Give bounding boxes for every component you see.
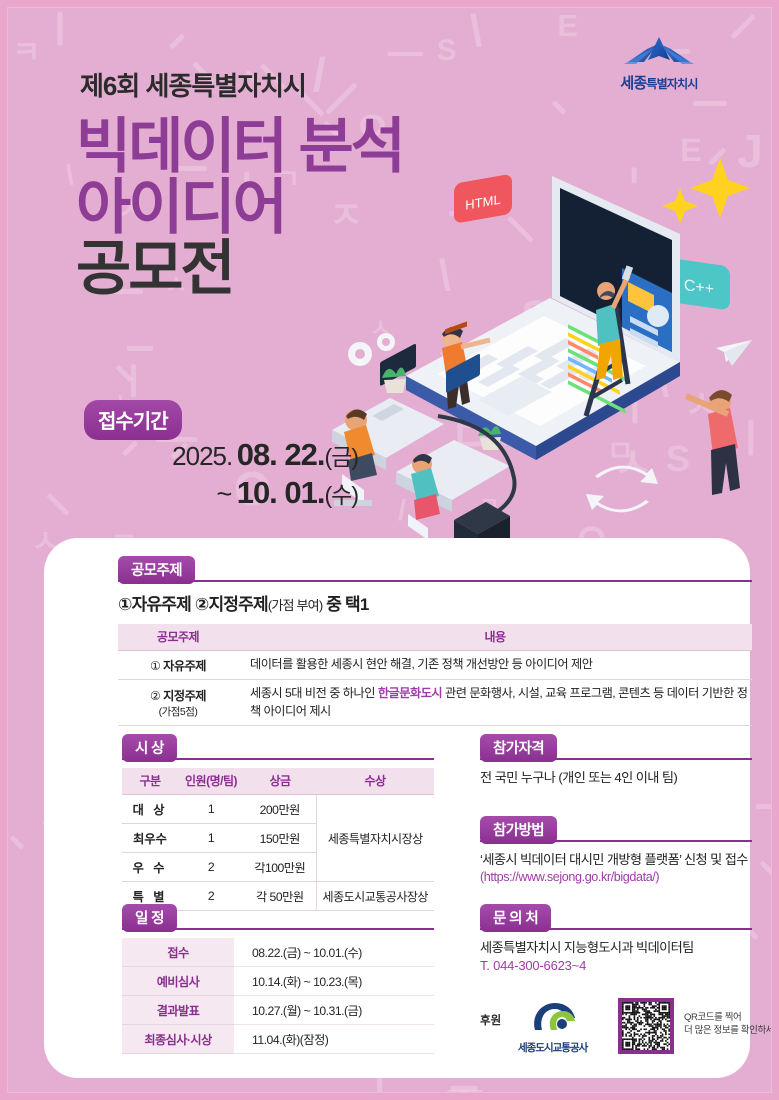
qr-note-line2: 더 많은 정보를 확인하세요! — [684, 1025, 772, 1038]
awards-th-recipient: 수상 — [316, 768, 434, 795]
title-line-3: 공모전 — [76, 238, 403, 299]
topic-row2-num: ② — [150, 689, 160, 703]
section-contact-header: 문 의 처 — [480, 904, 752, 930]
section-topic-label: 공모주제 — [118, 556, 195, 584]
qr-code-pattern — [622, 1002, 670, 1050]
qualification-text: 전 국민 누구나 (개인 또는 4인 이내 팀) — [480, 768, 752, 788]
table-row: 결과발표 10.27.(월) ~ 10.31.(금) — [122, 996, 434, 1025]
section-schedule-header: 일 정 — [122, 904, 434, 930]
poster-root: Sㄱ\JTㅁㅅSㄱㅋTEO\ㅅㅈㅅㅡㄱ\/ㅋE\+ㅋ\ㅇ\ㅈOㅇㅅOEㅋ\/ㅇㅁ… — [0, 0, 779, 1100]
section-schedule: 일 정 접수 08.22.(금) ~ 10.01.(수) 예비심사 10.14.… — [122, 904, 434, 1054]
topic-row1-name: 자유주제 — [163, 659, 206, 673]
topic-row2-content: 세종시 5대 비전 중 하나인 한글문화도시 관련 문화행사, 시설, 교육 프… — [238, 680, 752, 726]
apply-text: ‘세종시 빅데이터 대시민 개방형 플랫폼’ 신청 및 접수 — [480, 850, 752, 870]
table-row: ② 지정주제 (가점5점) 세종시 5대 비전 중 하나인 한글문화도시 관련 … — [118, 680, 752, 726]
awards-th-prize: 상금 — [244, 768, 316, 795]
schedule-table: 접수 08.22.(금) ~ 10.01.(수) 예비심사 10.14.(화) … — [122, 938, 434, 1054]
topic-th-content: 내용 — [238, 624, 752, 651]
topic-lead-note: (가점 부여) — [268, 598, 323, 613]
topic-row2-name: 지정주제 — [163, 689, 206, 703]
award-row1-grade: 대 상 — [122, 795, 178, 824]
period-start-date: 08. 22. — [237, 437, 325, 472]
section-awards-label: 시 상 — [122, 734, 177, 762]
sejong-city-logo-text: 세종특별자치시 — [593, 72, 725, 93]
topic-table-header-row: 공모주제 내용 — [118, 624, 752, 651]
section-qualification-label: 참가자격 — [480, 734, 557, 762]
schedule-row3-label: 결과발표 — [122, 996, 234, 1025]
award-row3-prize: 각100만원 — [244, 853, 316, 882]
title-line-2: 아이디어 — [76, 177, 403, 238]
sponsor-logo: 세종도시교통공사 — [518, 1000, 587, 1055]
awards-th-grade: 구분 — [122, 768, 178, 795]
table-row: 접수 08.22.(금) ~ 10.01.(수) — [122, 938, 434, 967]
schedule-row1-label: 접수 — [122, 938, 234, 967]
section-apply-header: 참가방법 — [480, 816, 752, 842]
section-awards: 시 상 구분 인원(명/팀) 상금 수상 대 상 — [122, 734, 434, 911]
period-year: 2025. — [172, 441, 232, 471]
section-contact-label: 문 의 처 — [480, 904, 551, 932]
topic-lead: ①자유주제 ②지정주제(가점 부여) 중 택1 — [118, 590, 752, 615]
award-row1-prize: 200만원 — [244, 795, 316, 824]
award-row2-prize: 150만원 — [244, 824, 316, 853]
schedule-row4-label: 최종심사·시상 — [122, 1025, 234, 1054]
schedule-row1-value: 08.22.(금) ~ 10.01.(수) — [234, 938, 434, 967]
page-kicker: 제6회 세종특별자치시 — [80, 66, 306, 103]
schedule-row2-label: 예비심사 — [122, 967, 234, 996]
sejong-logo-sub: 특별자치시 — [646, 77, 697, 91]
award-row3-count: 2 — [178, 853, 244, 882]
poster-frame: Sㄱ\JTㅁㅅSㄱㅋTEO\ㅅㅈㅅㅡㄱ\/ㅋE\+ㅋ\ㅇ\ㅈOㅇㅅOEㅋ\/ㅇㅁ… — [7, 7, 772, 1093]
table-row: ① 자유주제 데이터를 활용한 세종시 현안 해결, 기존 정책 개선방안 등 … — [118, 651, 752, 680]
award-row3-grade: 우 수 — [122, 853, 178, 882]
sejong-city-logo: 세종특별자치시 — [593, 36, 725, 104]
page-title: 빅데이터 분석 아이디어 공모전 — [76, 116, 403, 300]
topic-row1-content: 데이터를 활용한 세종시 현안 해결, 기존 정책 개선방안 등 아이디어 제안 — [238, 651, 752, 680]
section-awards-header: 시 상 — [122, 734, 434, 760]
topic-lead-tail: 중 택1 — [322, 595, 368, 614]
apply-link[interactable]: (https://www.sejong.go.kr/bigdata/) — [480, 870, 752, 884]
table-row: 최종심사·시상 11.04.(화)(잠정) — [122, 1025, 434, 1054]
sponsor-row: 후원 세종도시교통공사 — [480, 996, 770, 1060]
awards-th-count: 인원(명/팀) — [178, 768, 244, 795]
section-contact: 문 의 처 세종특별자치시 지능형도시과 빅데이터팀 T. 044-300-66… — [480, 904, 752, 973]
qr-note: QR코드를 찍어 더 많은 정보를 확인하세요! — [684, 1012, 772, 1038]
info-card: 공모주제 ①자유주제 ②지정주제(가점 부여) 중 택1 공모주제 내용 — [44, 538, 750, 1078]
period-line-end: ~ 10. 01.(수) — [68, 474, 358, 512]
section-qualification-header: 참가자격 — [480, 734, 752, 760]
schedule-row2-value: 10.14.(화) ~ 10.23.(목) — [234, 967, 434, 996]
qr-code-icon[interactable] — [618, 998, 674, 1054]
topic-row2-subnote: (가점5점) — [122, 704, 234, 719]
award-recipient-city: 세종특별자치시장상 — [316, 795, 434, 882]
topic-th-subject: 공모주제 — [118, 624, 238, 651]
qr-note-line1: QR코드를 찍어 — [684, 1012, 772, 1025]
award-row1-count: 1 — [178, 795, 244, 824]
table-row: 대 상 1 200만원 세종특별자치시장상 — [122, 795, 434, 824]
award-row2-grade: 최우수 — [122, 824, 178, 853]
topic-row2-subject: ② 지정주제 (가점5점) — [118, 680, 238, 726]
period-line-start: 2025. 08. 22.(금) — [68, 436, 358, 474]
sponsor-label: 후원 — [480, 1012, 501, 1028]
table-row: 예비심사 10.14.(화) ~ 10.23.(목) — [122, 967, 434, 996]
period-end-date: 10. 01. — [237, 475, 325, 510]
section-topic: 공모주제 ①자유주제 ②지정주제(가점 부여) 중 택1 공모주제 내용 — [118, 556, 752, 726]
schedule-row3-value: 10.27.(월) ~ 10.31.(금) — [234, 996, 434, 1025]
contact-org: 세종특별자치시 지능형도시과 빅데이터팀 — [480, 938, 752, 958]
contact-tel[interactable]: T. 044-300-6623~4 — [480, 958, 752, 973]
topic-row1-num: ① — [150, 659, 160, 673]
sponsor-logo-name: 세종도시교통공사 — [518, 1040, 587, 1055]
section-topic-rule — [118, 580, 752, 582]
awards-table-header-row: 구분 인원(명/팀) 상금 수상 — [122, 768, 434, 795]
title-line-1: 빅데이터 분석 — [76, 116, 403, 177]
awards-table: 구분 인원(명/팀) 상금 수상 대 상 1 200만원 세종특별자치시장상 — [122, 768, 434, 911]
topic-row2-content-pre: 세종시 5대 비전 중 하나인 — [250, 686, 378, 700]
topic-row1-subject: ① 자유주제 — [118, 651, 238, 680]
period-start-day: (금) — [325, 444, 358, 470]
schedule-row4-value: 11.04.(화)(잠정) — [234, 1025, 434, 1054]
reception-period-dates: 2025. 08. 22.(금) ~ 10. 01.(수) — [68, 436, 358, 512]
section-topic-header: 공모주제 — [118, 556, 752, 582]
sejong-wing-logo-icon — [593, 36, 725, 70]
section-apply: 참가방법 ‘세종시 빅데이터 대시민 개방형 플랫폼’ 신청 및 접수 (htt… — [480, 816, 752, 884]
sejong-transport-logo-icon — [529, 1021, 577, 1038]
topic-lead-main: ①자유주제 ②지정주제 — [118, 595, 268, 614]
period-end-day: (수) — [325, 482, 358, 508]
section-schedule-label: 일 정 — [122, 904, 177, 932]
section-apply-label: 참가방법 — [480, 816, 557, 844]
award-row2-count: 1 — [178, 824, 244, 853]
section-qualification: 참가자격 전 국민 누구나 (개인 또는 4인 이내 팀) — [480, 734, 752, 788]
sejong-logo-main: 세종 — [620, 75, 646, 92]
topic-table: 공모주제 내용 ① 자유주제 데이터를 활용한 세종시 현안 해결, 기존 정책… — [118, 624, 752, 726]
reception-period-badge: 접수기간 — [84, 400, 182, 440]
period-tilde: ~ — [216, 479, 232, 509]
topic-row2-content-highlight: 한글문화도시 — [378, 686, 442, 700]
